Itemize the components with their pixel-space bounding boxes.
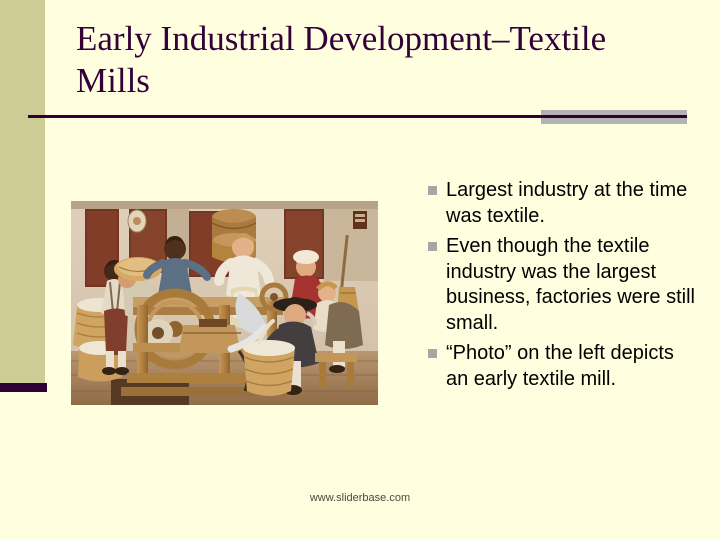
- bullet-text: Largest industry at the time was textile…: [446, 178, 700, 229]
- title-underline-rule: [28, 115, 687, 118]
- sidebar-decorative-band: [0, 0, 45, 383]
- bullet-text: “Photo” on the left depicts an early tex…: [446, 341, 700, 392]
- bullet-list: Largest industry at the time was textile…: [428, 178, 700, 397]
- title-block: Early Industrial Development–Textile Mil…: [76, 18, 676, 102]
- list-item: “Photo” on the left depicts an early tex…: [428, 341, 700, 392]
- list-item: Largest industry at the time was textile…: [428, 178, 700, 229]
- bullet-square-icon: [428, 186, 437, 195]
- bullet-text: Even though the textile industry was the…: [446, 234, 700, 336]
- slide-canvas: Early Industrial Development–Textile Mil…: [0, 0, 720, 540]
- bullet-square-icon: [428, 349, 437, 358]
- sidebar-accent-bar: [0, 383, 47, 392]
- textile-mill-painting-icon: [71, 201, 378, 405]
- footer-credit: www.sliderbase.com: [0, 492, 720, 504]
- slide-image: [71, 201, 378, 405]
- list-item: Even though the textile industry was the…: [428, 234, 700, 336]
- page-title: Early Industrial Development–Textile Mil…: [76, 18, 676, 102]
- bullet-square-icon: [428, 242, 437, 251]
